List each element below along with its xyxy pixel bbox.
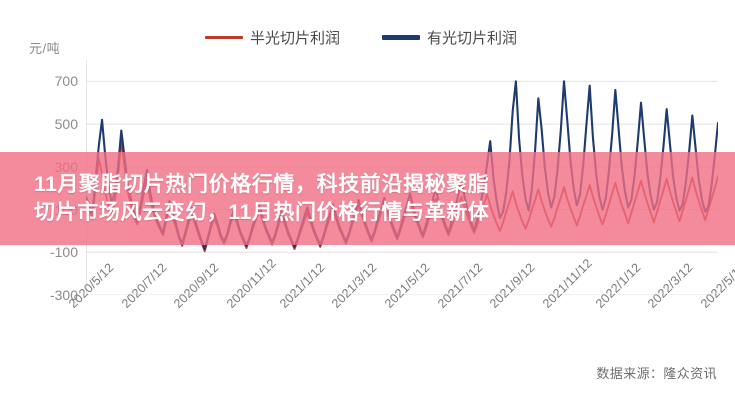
legend-swatch-red-icon [205, 36, 243, 39]
banner-line-1: 11月聚脂切片热门价格行情，科技前沿揭秘聚脂 [34, 171, 735, 199]
chart-container: 元/吨 半光切片利润 有光切片利润 700500300100-100-300 2… [0, 0, 735, 400]
y-axis-tick-0: 700 [55, 73, 78, 89]
legend-label-banguang: 半光切片利润 [250, 27, 340, 48]
chart-legend: 半光切片利润 有光切片利润 [205, 27, 517, 48]
legend-label-youguang: 有光切片利润 [427, 27, 517, 48]
y-axis-tick-4: -100 [50, 244, 78, 260]
legend-item-youguang[interactable]: 有光切片利润 [382, 27, 517, 48]
overlay-banner: 11月聚脂切片热门价格行情，科技前沿揭秘聚脂 切片市场风云变幻，11月热门价格行… [0, 152, 735, 245]
y-axis-tick-1: 500 [55, 116, 78, 132]
banner-line-2: 切片市场风云变幻，11月热门价格行情与革新体 [34, 199, 735, 227]
legend-swatch-blue-icon [382, 35, 420, 40]
legend-item-banguang[interactable]: 半光切片利润 [205, 27, 340, 48]
source-note: 数据来源：隆众资讯 [596, 363, 717, 382]
